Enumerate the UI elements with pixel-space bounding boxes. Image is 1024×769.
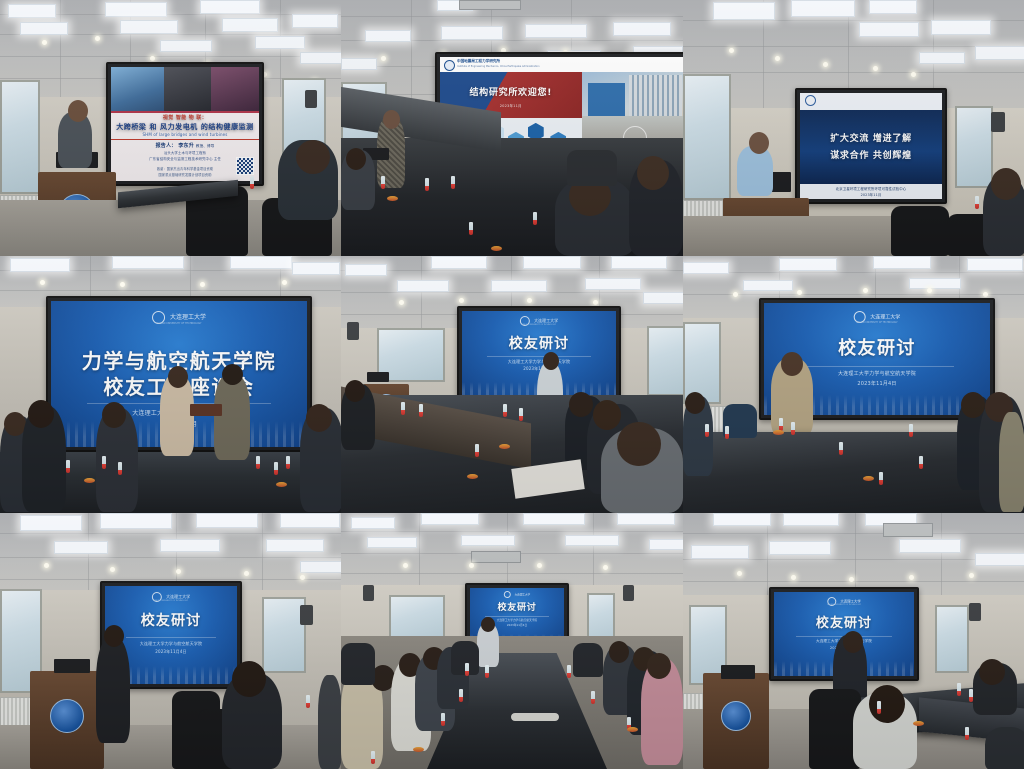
ceiling-light [20, 22, 68, 35]
person-seated [985, 727, 1024, 769]
person-head [104, 625, 124, 647]
person-seated [318, 675, 341, 769]
slide-title-line2: 大跨桥梁 和 风力发电机 的结构健康监测 [111, 122, 259, 132]
ceiling-light [8, 4, 56, 18]
university-logo-en: DALIAN UNIVERSITY OF TECHNOLOGY [154, 601, 188, 603]
photo-panel-middle-left: 大连理工大学 DALIAN UNIVERSITY OF TECHNOLOGY 力… [0, 256, 341, 513]
person-head [869, 685, 905, 723]
ceiling-light [105, 2, 167, 17]
person-standing [214, 374, 250, 460]
person-head [749, 132, 769, 154]
university-logo-text: 大连理工大学 [515, 594, 531, 597]
person-head [296, 140, 330, 174]
slide-title: 校友研讨 [462, 333, 616, 353]
air-vent [459, 0, 521, 10]
photo-panel-bottom-right: 大连理工大学 DALIAN UNIVERSITY OF TECHNOLOGY 校… [683, 513, 1024, 769]
ceiling-light [120, 20, 178, 34]
person-head [383, 110, 400, 129]
ceiling-light [200, 0, 260, 14]
ceiling-light [300, 52, 341, 64]
slide: 扩大交流 增进了解 谋求合作 共创辉煌 北京卫星环境工程研究所环境可靠性试验中心… [800, 93, 942, 199]
presenter-rank: 教授、博导 [196, 144, 215, 148]
university-logo-text: 大连理工大学 [870, 315, 900, 321]
photo-panel-top-right: 扩大交流 增进了解 谋求合作 共创辉煌 北京卫星环境工程研究所环境可靠性试验中心… [683, 0, 1024, 256]
person-head [168, 366, 188, 388]
slide: 视觉 智能 物 联： 大跨桥梁 和 风力发电机 的结构健康监测 SHM of l… [111, 67, 259, 181]
person-standing [737, 146, 773, 196]
photo-panel-middle-right: 大连理工大学 DALIAN UNIVERSITY OF TECHNOLOGY 校… [683, 256, 1024, 513]
university-logo-text: 大连理工大学 [166, 594, 190, 599]
institute-logo-icon [444, 60, 455, 71]
person-head [543, 352, 559, 370]
photo-panel-middle-center: 大连理工大学 DALIAN UNIVERSITY OF TECHNOLOGY 校… [341, 256, 683, 513]
ceiling [341, 513, 683, 590]
slide-title: 校友研讨 [774, 612, 914, 631]
person-head [481, 617, 495, 632]
video-wall-screen: 视觉 智能 物 联： 大跨桥梁 和 风力发电机 的结构健康监测 SHM of l… [106, 62, 264, 186]
person-head [346, 148, 366, 170]
wall-speaker [300, 605, 313, 625]
window [683, 322, 721, 404]
slide-header: 中国地震局工程力学研究所 [457, 59, 500, 64]
window [683, 74, 731, 200]
podium [703, 673, 769, 769]
person-head [637, 156, 669, 190]
slide-title-en: SHM of large bridges and wind turbines [111, 132, 259, 137]
laptop [54, 659, 90, 673]
university-seal-icon [50, 699, 84, 733]
institute-logo-icon [805, 95, 816, 106]
wall-speaker [969, 603, 981, 621]
certificate-folder [190, 404, 222, 416]
microphone [511, 713, 559, 721]
person-head [781, 352, 803, 376]
photo-panel-bottom-center: 大连理工大学 校友研讨 大连理工大学力学与航空航天学院 2023年11月4日 [341, 513, 683, 769]
slide-header-en: Institute of Engineering Mechanics, Chin… [457, 65, 539, 68]
wall-speaker [623, 585, 634, 601]
wall-speaker [305, 90, 317, 108]
photo-collage: 视觉 智能 物 联： 大跨桥梁 和 风力发电机 的结构健康监测 SHM of l… [0, 0, 1024, 769]
university-logo-en: DALIAN UNIVERSITY OF TECHNOLOGY [856, 322, 897, 324]
university-logo-en: DALIAN UNIVERSITY OF TECHNOLOGY [156, 323, 201, 325]
slide-footer-1: 北京卫星环境工程研究所环境可靠性试验中心 [800, 186, 942, 191]
university-logo-text: 大连理工大学 [534, 318, 558, 323]
person-head [68, 100, 88, 122]
chair [891, 206, 949, 256]
window [647, 326, 683, 396]
university-seal-icon [504, 591, 511, 598]
ceiling-light [255, 36, 305, 49]
laptop [367, 372, 389, 382]
wall-speaker [363, 585, 374, 601]
person-head [991, 168, 1021, 200]
slide-title-line1: 扩大交流 增进了解 [800, 131, 942, 144]
wall-speaker [991, 112, 1005, 132]
qr-code-icon [236, 157, 254, 175]
person-head [222, 364, 243, 385]
university-logo-en: DALIAN UNIVERSITY OF TECHNOLOGY [522, 325, 556, 327]
air-vent [471, 551, 521, 563]
photo-panel-top-left: 视觉 智能 物 联： 大跨桥梁 和 风力发电机 的结构健康监测 SHM of l… [0, 0, 341, 256]
person-head [232, 661, 266, 697]
video-wall-screen: 扩大交流 增进了解 谋求合作 共创辉煌 北京卫星环境工程研究所环境可靠性试验中心… [795, 88, 947, 204]
wall-speaker [347, 322, 359, 340]
photo-panel-top-center: 中国地震局工程力学研究所 Institute of Engineering Me… [341, 0, 683, 256]
water-bottle [250, 176, 254, 189]
window [0, 80, 40, 194]
slide-title: 结构研究所欢迎您! [440, 85, 582, 98]
podium [30, 671, 104, 769]
slide-title-line1: 视觉 智能 物 联： [111, 114, 259, 121]
slide-subtitle-1: 大连理工大学力学与航空航天学院 [462, 359, 616, 365]
presenter-name: 李东升 [178, 143, 194, 149]
ceiling-light [222, 18, 278, 32]
slide-title: 校友研讨 [105, 610, 237, 630]
person-standing [96, 637, 130, 743]
person-head [843, 631, 863, 653]
window [955, 106, 993, 188]
window [935, 605, 969, 673]
air-vent [883, 523, 933, 537]
laptop [721, 665, 755, 679]
university-logo-en: DALIAN UNIVERSITY OF TECHNOLOGY [827, 605, 861, 607]
presenter-label: 报告人： [156, 143, 177, 149]
photo-panel-bottom-left: 大连理工大学 DALIAN UNIVERSITY OF TECHNOLOGY 校… [0, 513, 341, 769]
university-logo-text: 大连理工大学 [840, 600, 860, 604]
university-logo: 大连理工大学 [504, 591, 530, 598]
university-seal-icon [721, 701, 751, 731]
slide-footer-2: 2023年11月 [800, 192, 942, 197]
affiliation-1: 汕头大学土木与环境工程系 [111, 150, 259, 155]
slide-title: 校友研讨 [470, 600, 564, 613]
ceiling-light [292, 14, 338, 28]
university-logo-text: 大连理工大学 [170, 314, 206, 321]
ceiling-light [160, 40, 212, 52]
person-seated [999, 412, 1024, 512]
slide-title-line2: 谋求合作 共创辉煌 [800, 148, 942, 161]
